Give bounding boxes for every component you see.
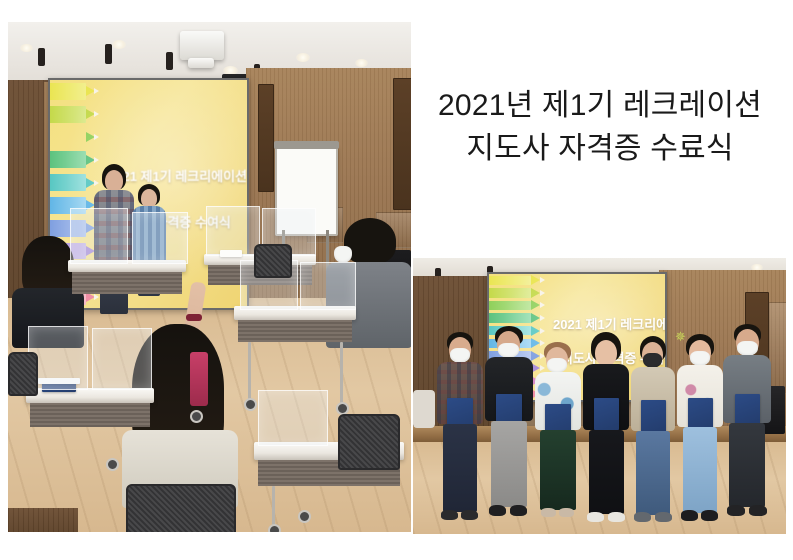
projector-lens — [188, 58, 214, 68]
slide-page: 2021년 제1기 레크레이션 지도사 자격증 수료식 — [0, 0, 793, 560]
door-right — [393, 78, 411, 210]
table-skirt — [30, 403, 150, 427]
table-leg — [272, 486, 275, 526]
wall-niche — [769, 302, 786, 394]
skirt — [540, 430, 576, 510]
caster-wheel — [190, 410, 203, 423]
door — [258, 84, 274, 192]
chair — [413, 390, 435, 428]
chair — [338, 414, 400, 470]
face-mask — [643, 353, 662, 368]
caster-wheel — [244, 398, 257, 411]
person-participant — [631, 336, 675, 526]
track-light-icon — [38, 48, 45, 66]
ceiling-light-icon — [296, 53, 310, 62]
ceiling-light-icon — [112, 40, 126, 49]
face-mask — [450, 348, 470, 363]
pants — [636, 431, 670, 515]
face-mask — [498, 343, 519, 358]
acrylic-partition — [132, 212, 188, 264]
acrylic-partition — [300, 262, 356, 310]
pants — [683, 427, 717, 513]
face-mask — [737, 341, 758, 356]
person-participant — [723, 324, 771, 526]
photo-classroom: 2021 제1기 레크리에이션 ✶ 지도사 자격증 수여식 — [8, 22, 411, 532]
chair — [254, 244, 292, 278]
pants — [443, 424, 477, 512]
pants — [589, 430, 624, 514]
acrylic-partition — [258, 390, 328, 446]
acrylic-partition — [206, 206, 260, 256]
pants — [491, 421, 527, 507]
certificate-folder — [641, 400, 666, 433]
acrylic-partition — [70, 208, 128, 264]
track-light-icon — [166, 52, 173, 70]
caster-wheel — [106, 458, 119, 471]
wristband — [186, 314, 202, 321]
screen-title-line-1: 2021 제1기 레크리에이션 — [553, 314, 665, 333]
projector-device — [180, 31, 224, 60]
acrylic-partition — [92, 328, 152, 390]
table-skirt — [72, 272, 182, 294]
face-mask — [690, 351, 710, 366]
certificate-folder — [735, 394, 760, 426]
person-participant — [677, 334, 723, 526]
person-participant — [437, 332, 483, 524]
ceiling-light-icon — [20, 44, 33, 52]
page-title-line-2: 지도사 자격증 수료식 — [420, 127, 780, 170]
person-participant — [583, 332, 629, 526]
chair — [126, 484, 236, 532]
caster-wheel — [298, 510, 311, 523]
person-participant — [485, 326, 533, 524]
pants — [729, 423, 765, 507]
certificate-folder — [594, 398, 619, 430]
person-participant — [535, 342, 581, 526]
chair — [8, 352, 38, 396]
page-title-line-1: 2021년 제1기 레크레이션 — [420, 84, 780, 127]
page-title: 2021년 제1기 레크레이션 지도사 자격증 수료식 — [420, 84, 780, 170]
track-light-icon — [105, 44, 112, 64]
stage-base — [8, 508, 78, 532]
pink-bag — [190, 352, 208, 406]
table-skirt — [238, 320, 352, 342]
caster-wheel — [268, 524, 281, 532]
table-leg — [248, 342, 251, 400]
face-mask — [547, 358, 567, 373]
photo-group-ceremony: 2021 제1기 레크리에이션 ✶ 지도사 자격증 수여식 ✵ — [413, 258, 786, 534]
ceiling-light-icon — [355, 59, 368, 67]
table-leg — [340, 342, 343, 404]
paper-sheet — [220, 250, 242, 257]
